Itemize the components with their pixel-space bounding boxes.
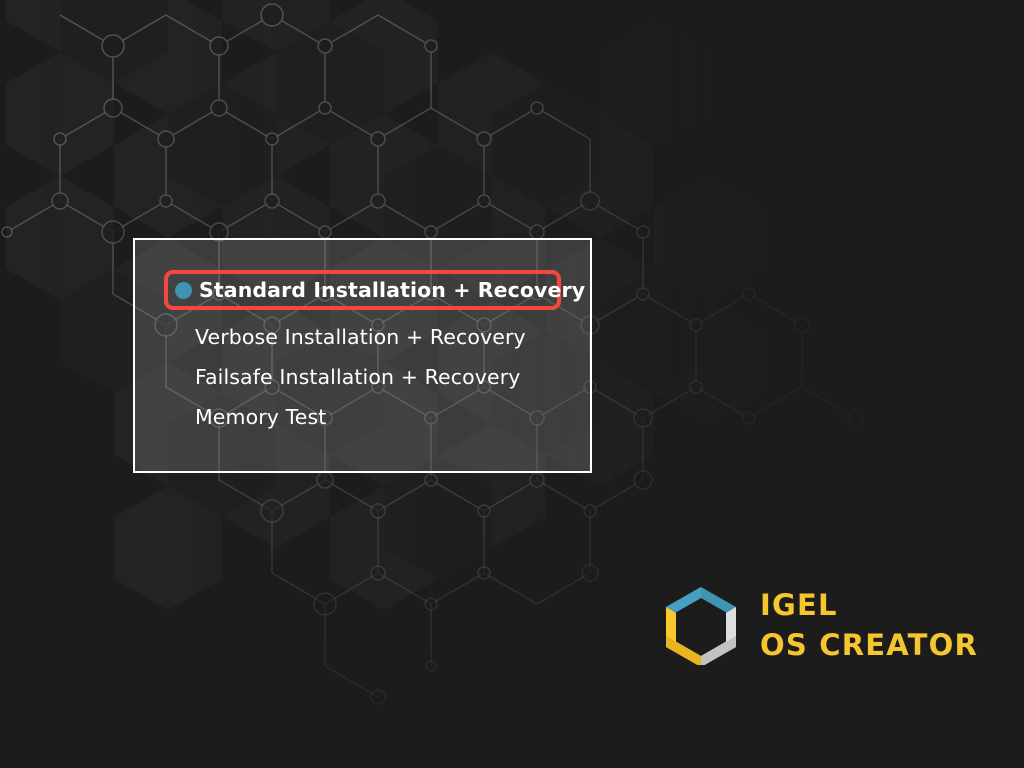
selection-dot-icon xyxy=(168,282,199,299)
brand-line-os-creator: OS CREATOR xyxy=(760,631,978,660)
brand-line-igel: IGEL xyxy=(760,591,978,620)
menu-item-label: Verbose Installation + Recovery xyxy=(195,325,526,349)
menu-item-failsafe-installation[interactable]: Failsafe Installation + Recovery xyxy=(195,357,520,397)
menu-item-memory-test[interactable]: Memory Test xyxy=(195,397,326,437)
menu-item-standard-installation[interactable]: Standard Installation + Recovery xyxy=(164,270,561,310)
menu-item-verbose-installation[interactable]: Verbose Installation + Recovery xyxy=(195,317,526,357)
menu-item-label: Memory Test xyxy=(195,405,326,429)
boot-menu-panel: Standard Installation + Recovery Verbose… xyxy=(133,238,592,473)
menu-item-label: Failsafe Installation + Recovery xyxy=(195,365,520,389)
brand-wordmark: IGEL OS CREATOR xyxy=(760,591,978,660)
igel-hexagon-logo-icon xyxy=(659,585,743,665)
igel-branding: IGEL OS CREATOR xyxy=(659,585,978,665)
boot-screen: Standard Installation + Recovery Verbose… xyxy=(0,0,1024,768)
menu-item-label: Standard Installation + Recovery xyxy=(199,278,585,302)
